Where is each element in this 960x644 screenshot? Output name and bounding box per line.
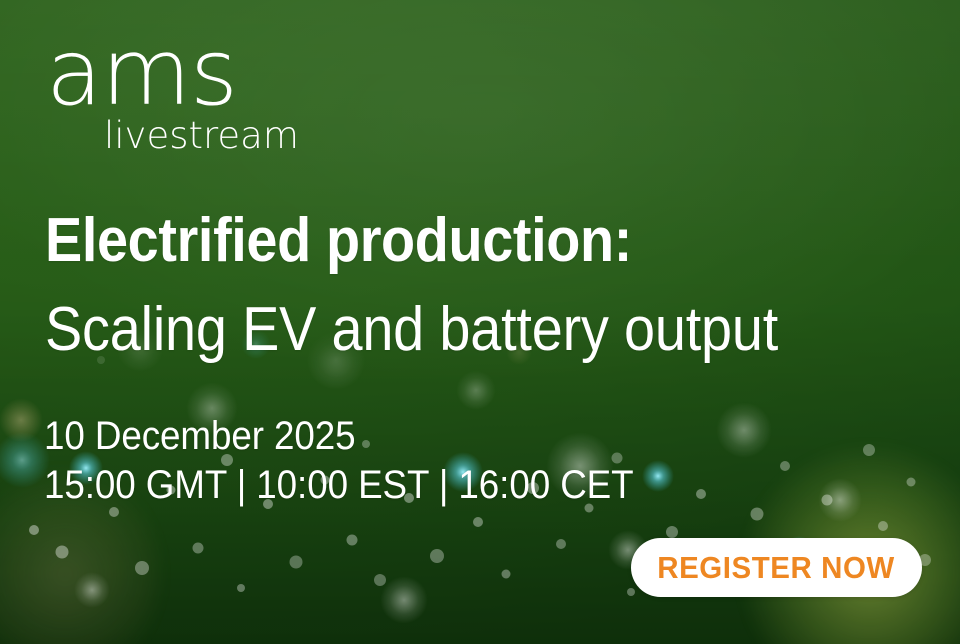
register-now-label: REGISTER NOW <box>658 550 896 586</box>
ams-livestream-logo: ams livestream <box>44 34 344 154</box>
livestream-wordmark: livestream <box>104 117 344 154</box>
headline-line-2: Scaling EV and battery output <box>45 295 855 364</box>
page-title: Electrified production: Scaling EV and b… <box>45 208 945 364</box>
event-date: 10 December 2025 <box>44 412 634 461</box>
event-schedule: 10 December 2025 15:00 GMT | 10:00 EST |… <box>44 412 685 510</box>
ams-wordmark: ams <box>44 34 344 111</box>
register-now-button[interactable]: REGISTER NOW <box>631 538 922 597</box>
webinar-promo-banner: ams livestream Electrified production: S… <box>0 0 960 644</box>
headline-line-1: Electrified production: <box>45 208 855 275</box>
event-timezones: 15:00 GMT | 10:00 EST | 16:00 CET <box>44 461 634 510</box>
